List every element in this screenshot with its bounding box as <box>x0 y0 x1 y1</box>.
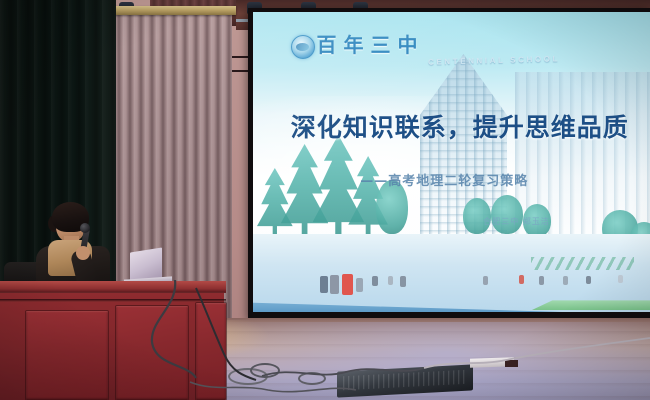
campus-tree <box>491 195 523 234</box>
microphone-head <box>80 223 90 233</box>
presenter-hand <box>76 246 90 260</box>
slide-title: 深化知识联系，提升思维品质 <box>291 108 629 144</box>
school-name-chinese: 百年三中 <box>317 29 425 58</box>
school-crest-emblem <box>291 35 315 59</box>
stage-cable <box>424 338 650 368</box>
slide-subtitle: ——高考地理二轮复习策略 <box>360 170 528 189</box>
auditorium-photo: 百年三中 CENTENNIAL SCHOOL 深化知识联系，提升思维品质 ——高… <box>0 0 650 400</box>
stage-cable-group <box>0 280 650 400</box>
led-presentation-screen: 百年三中 CENTENNIAL SCHOOL 深化知识联系，提升思维品质 ——高… <box>253 12 650 312</box>
tree-crown <box>491 195 523 234</box>
gold-curtain-valance <box>110 6 236 15</box>
stage-cable <box>190 382 356 392</box>
slide-presenter-credit: 合肥三中 郑玉洁 <box>483 216 550 227</box>
stage-cable <box>196 288 256 380</box>
stage-cable <box>152 280 196 378</box>
stage-cable <box>262 368 424 376</box>
